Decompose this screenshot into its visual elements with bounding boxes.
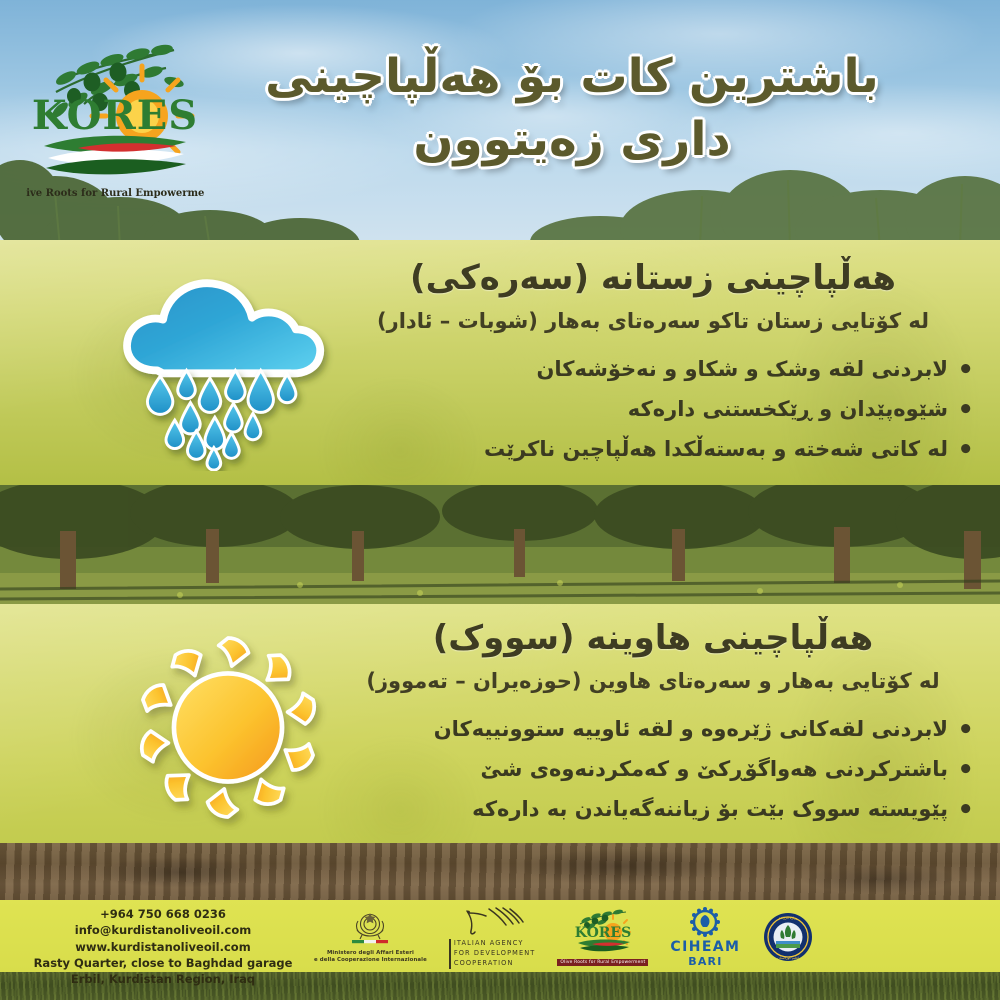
contact-address-line-1: Rasty Quarter, close to Baghdad garage: [18, 955, 308, 971]
page-title: باشترین کات بۆ هەڵپاچینی داری زەیتوون: [162, 46, 982, 172]
poster-root: KORES Olive Roots for Rural Empowerment …: [0, 0, 1000, 1000]
ciheam-emblem-icon: [685, 906, 725, 940]
partner-logo-ciheam: CIHEAM BARI: [670, 906, 740, 968]
partner-label-aics: ITALIAN AGENCY FOR DEVELOPMENT COOPERATI…: [449, 939, 536, 969]
aics-bird-icon: [459, 905, 525, 939]
ministry-of-agriculture-seal-icon: وزارة الزراعة إقليم كوردستان: [762, 911, 814, 963]
ciheam-sublabel: BARI: [688, 955, 722, 968]
partner-logo-ministry-of-agriculture: وزارة الزراعة إقليم كوردستان: [762, 911, 814, 963]
sun-icon-graphic: [123, 625, 333, 830]
summer-bullet-list: لابردنی لقەکانی ژێرەوە و لقە ئاوییە ستوو…: [328, 716, 978, 823]
rain-cloud-icon-graphic: [116, 261, 341, 471]
tilled-soil-photo: [0, 843, 1000, 902]
section-summer-pruning: هەڵپاچینی هاوینە (سووک) لە کۆتایی بەهار …: [0, 604, 1000, 846]
list-item: لە کاتی شەختە و بەستەڵکدا هەڵپاچین ناکرێ…: [328, 436, 978, 463]
aics-line-3: COOPERATION: [454, 959, 514, 967]
sun-icon: [108, 622, 348, 832]
ciheam-label: CIHEAM: [670, 940, 740, 955]
soil-texture: [0, 843, 1000, 902]
maeci-line-1: Ministero degli Affari Esteri: [327, 950, 414, 956]
rain-cloud-icon: [108, 258, 348, 473]
section-winter-pruning: هەڵپاچینی زستانە (سەرەکی) لە کۆتایی زستا…: [0, 240, 1000, 487]
list-item: لابردنی لقەکانی ژێرەوە و لقە ئاوییە ستوو…: [328, 716, 978, 743]
partner-logo-aics: ITALIAN AGENCY FOR DEVELOPMENT COOPERATI…: [449, 905, 536, 969]
kores-logo: KORES Olive Roots for Rural Empowerment: [26, 24, 204, 204]
kores-small-wordmark: KORES: [575, 925, 631, 941]
contact-address-line-2: Erbil, Kurdistan Region, Iraq: [18, 971, 308, 987]
summer-text-column: هەڵپاچینی هاوینە (سووک) لە کۆتایی بەهار …: [328, 618, 978, 835]
list-item: پێویستە سووک بێت بۆ زیاننەگەیاندن بە دار…: [328, 796, 978, 823]
contact-website[interactable]: www.kurdistanoliveoil.com: [18, 939, 308, 955]
winter-text-column: هەڵپاچینی زستانە (سەرەکی) لە کۆتایی زستا…: [328, 258, 978, 475]
olive-grove-illustration: [0, 485, 1000, 607]
partner-logo-maeci: Ministero degli Affari Esteri e della Co…: [314, 910, 427, 965]
list-item: لابردنی لقە وشک و شکاو و نەخۆشەکان: [328, 356, 978, 383]
contact-info: +964 750 668 0236 info@kurdistanoliveoil…: [18, 906, 308, 988]
partner-label-maeci: Ministero degli Affari Esteri e della Co…: [314, 950, 427, 965]
aics-line-1: ITALIAN AGENCY: [454, 939, 524, 947]
footer-bar: +964 750 668 0236 info@kurdistanoliveoil…: [0, 900, 1000, 972]
kores-small-tagline: Olive Roots for Rural Empowerment: [557, 959, 648, 966]
header-banner: KORES Olive Roots for Rural Empowerment …: [0, 0, 1000, 242]
italian-republic-emblem-icon: [343, 910, 397, 948]
aics-line-2: FOR DEVELOPMENT: [454, 949, 536, 957]
winter-bullet-list: لابردنی لقە وشک و شکاو و نەخۆشەکان شێوەپ…: [328, 356, 978, 463]
winter-heading: هەڵپاچینی زستانە (سەرەکی): [328, 258, 978, 299]
partner-logo-kores: KORES Olive Roots for Rural Empowerment: [557, 908, 648, 966]
partner-logo-row: Ministero degli Affari Esteri e della Co…: [300, 902, 990, 972]
page-title-line-1: باشترین کات بۆ هەڵپاچینی: [162, 46, 982, 109]
list-item: باشترکردنی هەواگۆڕکێ و کەمکردنەوەی شێ: [328, 756, 978, 783]
contact-phone: +964 750 668 0236: [18, 906, 308, 922]
maeci-line-2: e della Cooperazione Internazionale: [314, 957, 427, 963]
summer-heading: هەڵپاچینی هاوینە (سووک): [328, 618, 978, 659]
page-title-line-2: داری زەیتوون: [162, 109, 982, 172]
list-item: شێوەپێدان و ڕێکخستنی دارەکە: [328, 396, 978, 423]
contact-email[interactable]: info@kurdistanoliveoil.com: [18, 922, 308, 938]
summer-subheading: لە کۆتایی بەهار و سەرەتای هاوین (حوزەیرا…: [328, 667, 978, 695]
winter-subheading: لە کۆتایی زستان تاکو سەرەتای بەهار (شوبا…: [328, 307, 978, 335]
olive-grove-photo: [0, 485, 1000, 607]
kores-small-logo-icon: KORES: [572, 908, 634, 958]
svg-text:وزارة الزراعة: وزارة الزراعة: [779, 916, 798, 920]
kores-wordmark: KORES: [32, 92, 198, 139]
kores-logo-graphic: KORES Olive Roots for Rural Empowerment: [26, 24, 204, 204]
kores-logo-tagline: Olive Roots for Rural Empowerment: [26, 188, 204, 199]
